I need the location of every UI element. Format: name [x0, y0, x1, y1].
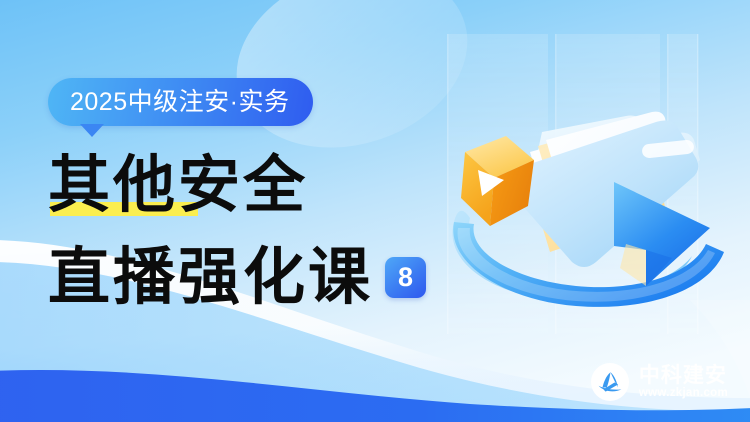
headline-line-2-row: 直播强化课 8: [48, 240, 426, 314]
course-tag-label: 2025中级注安·实务: [70, 90, 289, 115]
episode-number-badge: 8: [385, 257, 426, 298]
headline-line-1-row: 其他安全: [48, 148, 426, 222]
brand-name: 中科建安: [639, 365, 728, 386]
course-banner: 2025中级注安·实务 其他安全 直播强化课 8 中科建安 www.zkjan.…: [0, 0, 750, 422]
brand-url: www.zkjan.com: [639, 388, 728, 400]
course-tag: 2025中级注安·实务: [48, 78, 313, 126]
brand-text: 中科建安 www.zkjan.com: [639, 365, 728, 400]
headline: 其他安全 直播强化课 8: [48, 148, 426, 314]
course-tag-pill: 2025中级注安·实务: [48, 78, 313, 126]
headline-line-1: 其他安全: [48, 154, 308, 216]
headline-line-2: 直播强化课: [48, 246, 373, 308]
folder-with-arrow-illustration: [410, 0, 750, 350]
zk-logo-icon: [590, 362, 630, 402]
brand-logo: 中科建安 www.zkjan.com: [590, 362, 728, 402]
tag-tail-icon: [80, 124, 104, 137]
